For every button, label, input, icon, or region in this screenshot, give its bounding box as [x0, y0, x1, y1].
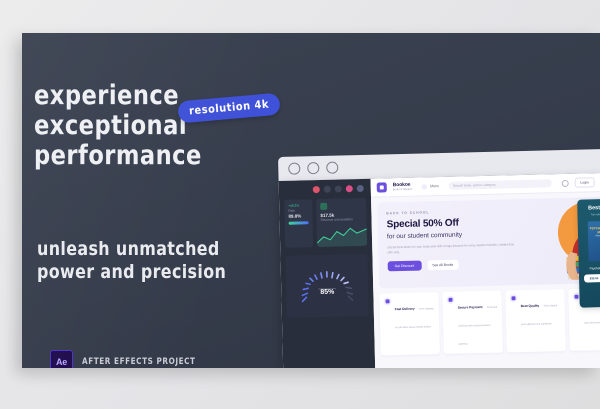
website-preview: Bookoe Book for Student Menu Search book…: [371, 172, 600, 368]
stat-big-label: Revenue and analytics: [321, 217, 363, 223]
dashboard-toolbar: [284, 185, 366, 194]
grid-icon[interactable]: [335, 185, 342, 192]
subheadline-line-2: power and precision: [37, 261, 270, 284]
price-old: $30.00: [590, 276, 599, 280]
hero-eyebrow: BACK TO SCHOOL: [386, 208, 530, 216]
login-button[interactable]: Login: [574, 177, 595, 187]
hero-title: Special 50% Off: [387, 216, 531, 231]
hero-secondary-button[interactable]: See All Books: [427, 260, 458, 271]
project-type-label: AFTER EFFECTS PROJECT: [82, 357, 196, 367]
payment-icon: [446, 296, 454, 304]
hero-subtitle: for our student community: [387, 230, 531, 241]
gauge-value: 85%: [320, 289, 334, 296]
headline-line-3: performance: [34, 141, 262, 171]
quality-icon: [509, 294, 517, 302]
subheadline-line-1: unleash unmatched: [37, 238, 270, 261]
feature-desc: Protected checkout with trusted payment …: [458, 306, 497, 346]
alert-icon[interactable]: [346, 185, 353, 192]
browser-viewport: +48.2% Rate 89.8% $17.5k Revenue and ana…: [279, 172, 600, 368]
book-author: Morgan Housel: [596, 235, 600, 237]
hero-paragraph: Get the best books for your study year w…: [387, 242, 519, 254]
feature-title: Secure Payment: [458, 305, 483, 310]
hero-primary-button[interactable]: Get Discount: [388, 261, 422, 272]
search-icon[interactable]: [561, 179, 568, 186]
feature-title: Fast Delivery: [395, 307, 415, 311]
book-title: PSYCHOLOGY OF MONEY: [588, 226, 600, 235]
hero-copy: BACK TO SCHOOL Special 50% Off for our s…: [377, 199, 532, 289]
feature-card[interactable]: Fast Delivery Free shipping on all order…: [379, 292, 439, 355]
menu-label: Menu: [430, 184, 439, 188]
project-type-row: Ae AFTER EFFECTS PROJECT: [50, 350, 202, 368]
dashboard-cards: +48.2% Rate 89.8% $17.5k Revenue and ana…: [284, 198, 367, 248]
promo-slide: experience exceptional performance unlea…: [22, 33, 600, 368]
brand-block: Bookoe Book for Student: [393, 182, 413, 191]
minimize-dot-icon[interactable]: [307, 162, 319, 174]
hero-banner: BACK TO SCHOOL Special 50% Off for our s…: [377, 197, 600, 289]
best-seller-subtitle: Top rated this month: [582, 213, 600, 217]
feature-card[interactable]: Best Quality Only original print edition…: [505, 289, 565, 352]
best-seller-card[interactable]: Best Seller Top rated this month PSYCHOL…: [577, 198, 600, 307]
maximize-dot-icon[interactable]: [326, 162, 338, 174]
dashboard-panel: +48.2% Rate 89.8% $17.5k Revenue and ana…: [279, 179, 376, 368]
hero-actions: Get Discount See All Books: [388, 258, 532, 272]
menu-grid-icon: [422, 184, 427, 189]
browser-mockup: +48.2% Rate 89.8% $17.5k Revenue and ana…: [278, 148, 600, 368]
brand-logo-icon[interactable]: [377, 182, 387, 192]
after-effects-icon: Ae: [50, 350, 73, 368]
stat-card-chart: $17.5k Revenue and analytics: [316, 198, 367, 247]
best-seller-name: Psychology of Money: [584, 266, 600, 271]
brand-tagline: Book for Student: [393, 188, 412, 191]
search-input[interactable]: Search book, author, category: [449, 179, 551, 189]
stat-progress-bar: [289, 221, 309, 224]
radial-gauge-icon: [296, 266, 359, 308]
chart-card-icon: [320, 203, 327, 210]
avatar[interactable]: [357, 185, 364, 192]
subheadline: unleash unmatched power and precision: [37, 238, 270, 284]
notification-icon[interactable]: [313, 186, 320, 193]
headline: experience exceptional performance: [34, 81, 262, 171]
feature-card[interactable]: Secure Payment Protected checkout with t…: [442, 291, 502, 354]
stat-small-sub: 89.8%: [288, 213, 308, 218]
search-placeholder: Search book, author, category: [453, 183, 496, 188]
delivery-icon: [383, 297, 391, 305]
feature-row: Fast Delivery Free shipping on all order…: [379, 288, 600, 356]
close-dot-icon[interactable]: [288, 162, 300, 174]
gauge-card: 85%: [285, 254, 368, 318]
book-cover: PSYCHOLOGY OF MONEY Morgan Housel: [588, 221, 600, 262]
feature-title: Best Quality: [521, 304, 540, 308]
sparkline-chart: [317, 224, 368, 247]
best-seller-title: Best Seller: [582, 205, 600, 212]
menu-dropdown[interactable]: Menu: [422, 184, 439, 189]
page-background: experience exceptional performance unlea…: [0, 0, 600, 409]
stat-card-small: +48.2% Rate 89.8%: [284, 199, 313, 248]
settings-icon[interactable]: [324, 186, 331, 193]
best-seller-price: $30.00 $18.00: [584, 274, 600, 283]
